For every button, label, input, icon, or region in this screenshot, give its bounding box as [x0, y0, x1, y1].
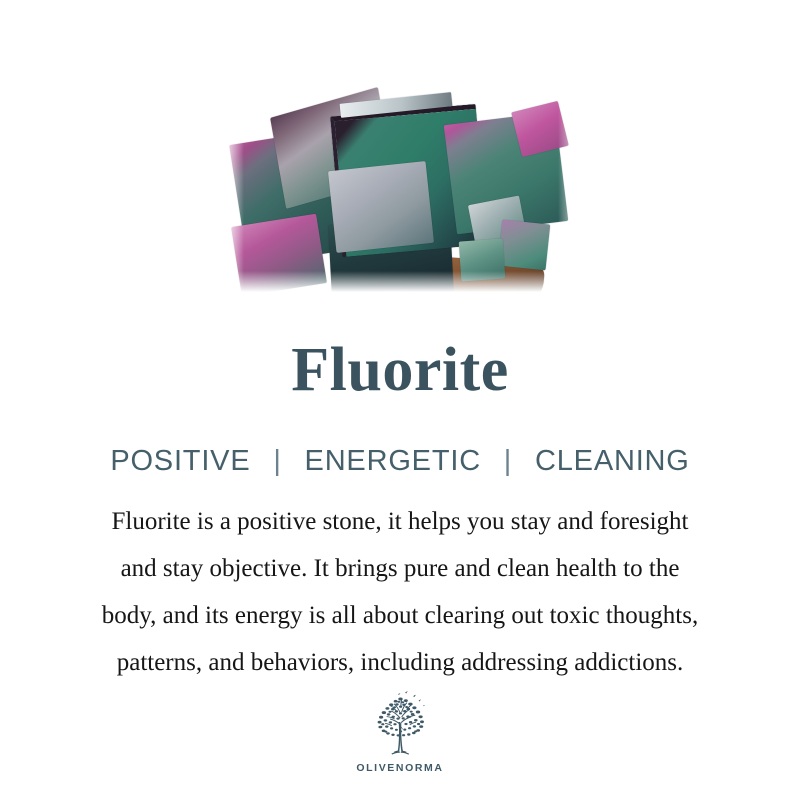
keyword-positive: POSITIVE [110, 445, 250, 477]
page-title: Fluorite [0, 334, 800, 406]
image-right-fade [558, 92, 588, 302]
image-left-fade [218, 92, 244, 302]
crystal-facet-small-violet [498, 220, 551, 271]
crystal-info-card: Fluorite POSITIVE | ENERGETIC | CLEANING… [0, 0, 800, 800]
description-line-4: patterns, and behaviors, including addre… [24, 639, 776, 686]
description-line-1: Fluorite is a positive stone, it helps y… [24, 498, 776, 545]
keyword-tagline: POSITIVE | ENERGETIC | CLEANING [0, 443, 800, 479]
image-bottom-fade [222, 271, 602, 305]
crystal-facet-center-pale-slab [328, 161, 434, 253]
description-line-3: body, and its energy is all about cleari… [24, 592, 776, 639]
fluorite-crystal-cluster-image [232, 92, 572, 297]
description-text: Fluorite is a positive stone, it helps y… [24, 498, 776, 686]
hero-image-block [0, 0, 800, 320]
brand-wordmark: OLIVENORMA [356, 762, 443, 774]
brand-logo: OLIVENORMA [0, 688, 800, 774]
keyword-energetic: ENERGETIC [305, 445, 481, 477]
tagline-separator-2: | [490, 443, 526, 479]
tagline-separator-1: | [259, 443, 295, 479]
tree-with-birds-icon [361, 688, 439, 758]
description-line-2: and stay objective. It brings pure and c… [24, 545, 776, 592]
keyword-cleaning: CLEANING [535, 445, 690, 477]
